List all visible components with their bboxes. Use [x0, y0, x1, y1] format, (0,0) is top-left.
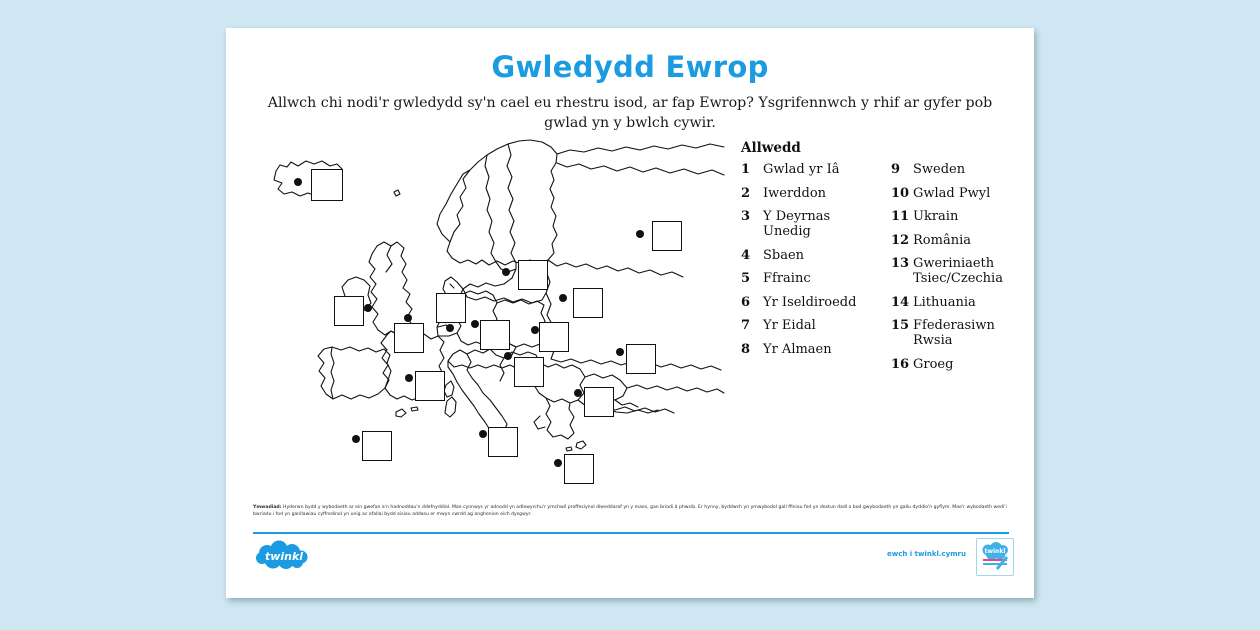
- key-item-label: Sweden: [913, 162, 1019, 177]
- key-item-number: 2: [741, 186, 763, 201]
- key-item-9: 9Sweden: [891, 162, 1019, 177]
- key-item-label: Gwlad yr Iâ: [763, 162, 869, 177]
- key-item-number: 13: [891, 256, 913, 271]
- key-item-2: 2Iwerddon: [741, 186, 869, 201]
- disclaimer-body: Hyderwn bydd y wybodaeth ar ein gwefan a…: [253, 505, 1007, 517]
- key-item-5: 5Ffrainc: [741, 271, 869, 286]
- key-item-label: Iwerddon: [763, 186, 869, 201]
- key-item-label: Yr Iseldiroedd: [763, 295, 869, 310]
- answer-box-romania[interactable]: [584, 387, 614, 417]
- locator-dot-spain: [352, 435, 360, 443]
- key-item-15: 15Ffederasiwn Rwsia: [891, 318, 1019, 348]
- key-item-10: 10Gwlad Pwyl: [891, 186, 1019, 201]
- key-item-number: 15: [891, 318, 913, 333]
- answer-box-ireland[interactable]: [334, 296, 364, 326]
- twinkl-quality-badge: twinkl: [976, 538, 1014, 576]
- answer-box-spain[interactable]: [362, 431, 392, 461]
- answer-box-netherlands[interactable]: [436, 293, 466, 323]
- europe-map: [254, 136, 734, 506]
- key-item-number: 16: [891, 357, 913, 372]
- key-column-left: 1Gwlad yr Iâ2Iwerddon3Y Deyrnas Unedig4S…: [741, 162, 869, 380]
- locator-dot-italy: [479, 430, 487, 438]
- key-item-number: 1: [741, 162, 763, 177]
- key-item-label: Yr Eidal: [763, 318, 869, 333]
- svg-text:twinkl: twinkl: [265, 550, 303, 563]
- answer-box-germany[interactable]: [480, 320, 510, 350]
- key-item-number: 7: [741, 318, 763, 333]
- answer-box-uk[interactable]: [394, 323, 424, 353]
- answer-box-france[interactable]: [415, 371, 445, 401]
- key-item-number: 5: [741, 271, 763, 286]
- answer-box-italy[interactable]: [488, 427, 518, 457]
- worksheet-page: Gwledydd Ewrop Allwch chi nodi'r gwledyd…: [226, 28, 1034, 598]
- key-item-7: 7Yr Eidal: [741, 318, 869, 333]
- key-item-label: Ffederasiwn Rwsia: [913, 318, 1019, 348]
- locator-dot-sweden: [502, 268, 510, 276]
- answer-box-sweden[interactable]: [518, 260, 548, 290]
- key-item-label: România: [913, 233, 1019, 248]
- key-item-label: Ukrain: [913, 209, 1019, 224]
- key-item-label: Gweriniaeth Tsiec/Czechia: [913, 256, 1019, 286]
- locator-dot-iceland: [294, 178, 302, 186]
- key-item-number: 8: [741, 342, 763, 357]
- key-item-6: 6Yr Iseldiroedd: [741, 295, 869, 310]
- locator-dot-lithuania: [559, 294, 567, 302]
- answer-box-iceland[interactable]: [311, 169, 343, 201]
- locator-dot-france: [405, 374, 413, 382]
- key-item-16: 16Groeg: [891, 357, 1019, 372]
- key-item-label: Yr Almaen: [763, 342, 869, 357]
- key-item-number: 4: [741, 248, 763, 263]
- key-heading: Allwedd: [741, 140, 1031, 156]
- page-title: Gwledydd Ewrop: [226, 50, 1034, 84]
- svg-text:twinkl: twinkl: [985, 548, 1006, 555]
- key-item-4: 4Sbaen: [741, 248, 869, 263]
- locator-dot-ukraine: [616, 348, 624, 356]
- disclaimer-text: Ymwadiad: Hyderwn bydd y wybodaeth ar ei…: [253, 504, 1009, 519]
- key-item-12: 12România: [891, 233, 1019, 248]
- key-item-label: Sbaen: [763, 248, 869, 263]
- answer-box-russia[interactable]: [652, 221, 682, 251]
- locator-dot-russia: [636, 230, 644, 238]
- locator-dot-poland: [531, 326, 539, 334]
- key-item-label: Groeg: [913, 357, 1019, 372]
- key-item-number: 11: [891, 209, 913, 224]
- locator-dot-romania: [574, 389, 582, 397]
- key-item-number: 3: [741, 209, 763, 224]
- key-item-1: 1Gwlad yr Iâ: [741, 162, 869, 177]
- key-item-number: 6: [741, 295, 763, 310]
- locator-dot-uk: [404, 314, 412, 322]
- key-panel: Allwedd 1Gwlad yr Iâ2Iwerddon3Y Deyrnas …: [741, 140, 1031, 380]
- disclaimer-label: Ymwadiad:: [253, 505, 282, 510]
- footer-divider: [253, 532, 1009, 534]
- twinkl-logo[interactable]: twinkl: [253, 540, 315, 572]
- screenshot-root: Gwledydd Ewrop Allwch chi nodi'r gwledyd…: [0, 0, 1260, 630]
- answer-box-greece[interactable]: [564, 454, 594, 484]
- locator-dot-greece: [554, 459, 562, 467]
- key-item-label: Ffrainc: [763, 271, 869, 286]
- answer-box-ukraine[interactable]: [626, 344, 656, 374]
- page-subtitle: Allwch chi nodi'r gwledydd sy'n cael eu …: [260, 93, 1000, 133]
- key-item-label: Lithuania: [913, 295, 1019, 310]
- key-item-label: Y Deyrnas Unedig: [763, 209, 869, 239]
- locator-dot-ireland: [364, 304, 372, 312]
- key-item-3: 3Y Deyrnas Unedig: [741, 209, 869, 239]
- key-item-8: 8Yr Almaen: [741, 342, 869, 357]
- locator-dot-germany: [471, 320, 479, 328]
- locator-dot-czechia: [504, 352, 512, 360]
- visit-link[interactable]: ewch i twinkl.cymru: [846, 550, 966, 558]
- key-item-13: 13Gweriniaeth Tsiec/Czechia: [891, 256, 1019, 286]
- key-item-number: 12: [891, 233, 913, 248]
- key-item-number: 9: [891, 162, 913, 177]
- key-column-right: 9Sweden10Gwlad Pwyl11Ukrain12România13Gw…: [891, 162, 1019, 380]
- answer-box-czechia[interactable]: [514, 357, 544, 387]
- key-item-number: 14: [891, 295, 913, 310]
- key-item-11: 11Ukrain: [891, 209, 1019, 224]
- key-item-14: 14Lithuania: [891, 295, 1019, 310]
- answer-box-poland[interactable]: [539, 322, 569, 352]
- key-item-label: Gwlad Pwyl: [913, 186, 1019, 201]
- locator-dot-netherlands: [446, 324, 454, 332]
- answer-box-lithuania[interactable]: [573, 288, 603, 318]
- key-item-number: 10: [891, 186, 913, 201]
